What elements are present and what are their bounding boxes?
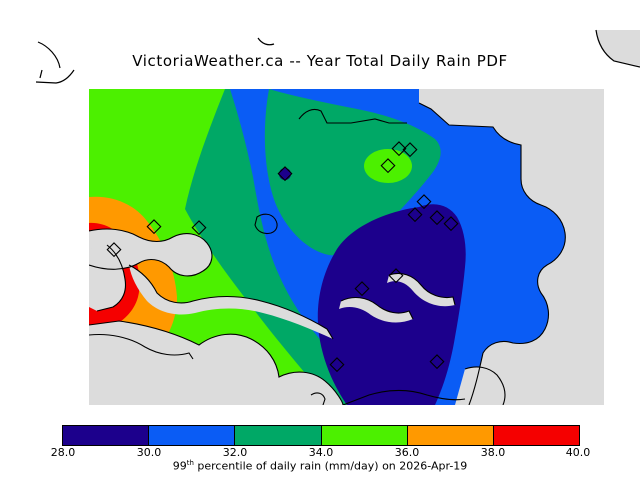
caption-prefix: 99 [173, 460, 187, 473]
colorbar-segment-28-30[interactable] [63, 426, 149, 445]
caption-suffix: percentile of daily rain (mm/day) on 202… [194, 460, 467, 473]
colorbar-tick-4: 36.0 [395, 446, 420, 459]
colorbar-tick-2: 32.0 [223, 446, 248, 459]
colorbar-tick-3: 34.0 [309, 446, 334, 459]
colorbar-segment-34-36[interactable] [322, 426, 408, 445]
colorbar-segment-36-38[interactable] [408, 426, 494, 445]
colorbar-segment-38-40[interactable] [494, 426, 579, 445]
colorbar[interactable] [62, 425, 580, 446]
colorbar-tick-1: 30.0 [137, 446, 162, 459]
colorbar-segment-30-32[interactable] [149, 426, 235, 445]
contour-band-28-30-point [279, 168, 291, 180]
colorbar-segment-32-34[interactable] [235, 426, 321, 445]
colorbar-tick-6: 40.0 [566, 446, 591, 459]
screenshot-root: VictoriaWeather.ca -- Year Total Daily R… [0, 0, 640, 480]
colorbar-tick-labels: 28.0 30.0 32.0 34.0 36.0 38.0 40.0 [0, 446, 640, 460]
caption-superscript: th [187, 459, 194, 467]
contour-map[interactable] [89, 89, 604, 405]
page-title: VictoriaWeather.ca -- Year Total Daily R… [0, 52, 640, 70]
colorbar-tick-0: 28.0 [51, 446, 76, 459]
colorbar-tick-5: 38.0 [481, 446, 506, 459]
colorbar-caption: 99th percentile of daily rain (mm/day) o… [0, 459, 640, 473]
